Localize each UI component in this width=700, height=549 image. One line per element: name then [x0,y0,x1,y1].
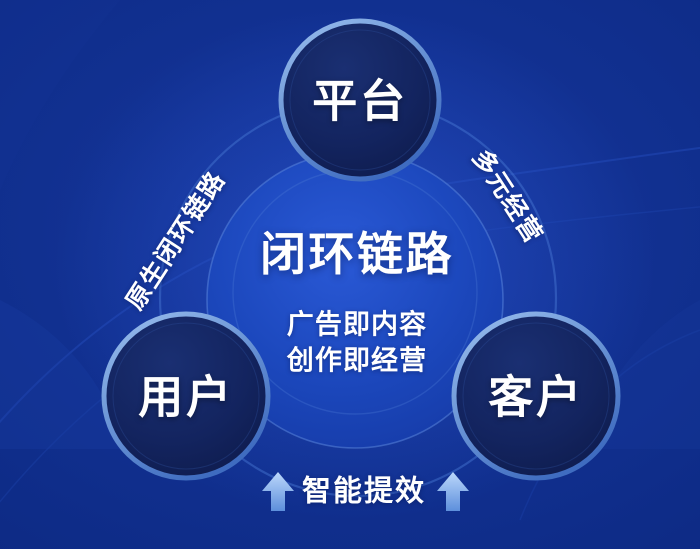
center-title: 闭环链路 [260,231,454,277]
center-subtitle-line-1: 广告即内容 [287,312,427,339]
footer-label: 智能提效 [302,478,426,507]
node-user-label: 用户 [138,375,233,420]
diagram-canvas: 平台 用户 客户 闭环链路 广告即内容 创作即经营 原生闭环链路 多元经营 智能… [0,0,700,549]
center-subtitle-line-2: 创作即经营 [287,348,427,375]
node-customer-label: 客户 [488,375,583,420]
node-platform-label: 平台 [312,79,407,124]
